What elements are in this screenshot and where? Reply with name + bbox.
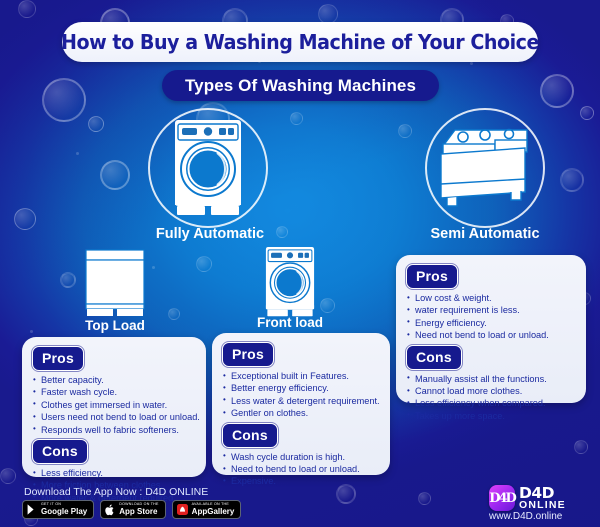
card-top-load: Pros Better capacity. Faster wash cycle.… (22, 337, 206, 477)
cons-list-semi-automatic: Manually assist all the functions. Canno… (406, 373, 576, 423)
bubble-icon (0, 468, 16, 484)
list-item: Users need not bend to load or unload. (32, 411, 196, 423)
page-title-banner: How to Buy a Washing Machine of Your Cho… (62, 22, 538, 62)
bubble-icon (42, 78, 86, 122)
list-item: Clothes get immersed in water. (32, 399, 196, 411)
figure-fully-automatic: Fully Automatic (120, 108, 300, 238)
google-play-badge[interactable]: GET IT ON Google Play (22, 500, 94, 519)
list-item: Expensive. (222, 475, 380, 487)
list-item: Gentler on clothes. (222, 407, 380, 419)
list-item: Takes up more space. (406, 410, 576, 422)
list-item: Need to bend to load or unload. (222, 463, 380, 475)
bubble-dot-icon (30, 330, 33, 333)
google-play-badge-bottom: Google Play (41, 508, 87, 516)
appgallery-badge-bottom: AppGallery (192, 508, 235, 516)
figure-label-fully-automatic: Fully Automatic (120, 226, 300, 242)
list-item: Better energy efficiency. (222, 382, 380, 394)
app-store-badges: GET IT ON Google Play Download on the Ap… (22, 500, 241, 519)
bubble-icon (14, 208, 36, 230)
list-item: water requirement is less. (406, 304, 576, 316)
logo-mark-icon: D4D (489, 485, 515, 511)
bubble-icon (196, 256, 212, 272)
apple-icon (105, 504, 115, 516)
huawei-appgallery-icon (177, 504, 188, 515)
figure-label-top-load: Top Load (60, 318, 170, 333)
list-item: Better capacity. (32, 374, 196, 386)
infographic-poster: How to Buy a Washing Machine of Your Cho… (0, 0, 600, 527)
bubble-dot-icon (76, 152, 79, 155)
card-semi-automatic: Pros Low cost & weight. water requiremen… (396, 255, 586, 403)
bubble-icon (18, 0, 36, 18)
list-item: Exceptional built in Features. (222, 370, 380, 382)
pros-badge: Pros (222, 342, 274, 367)
d4d-online-logo[interactable]: D4D D4D ONLINE www.D4D.online (489, 484, 593, 524)
list-item: Manually assist all the functions. (406, 373, 576, 385)
bubble-icon (318, 4, 338, 24)
pros-list-semi-automatic: Low cost & weight. water requirement is … (406, 292, 576, 342)
cons-badge: Cons (406, 345, 462, 370)
list-item: Low cost & weight. (406, 292, 576, 304)
bubble-icon (418, 492, 431, 505)
appgallery-badge[interactable]: Available on the AppGallery (172, 500, 242, 519)
list-item: Wash cycle duration is high. (222, 451, 380, 463)
pros-badge: Pros (32, 346, 84, 371)
page-title: How to Buy a Washing Machine of Your Cho… (61, 30, 539, 54)
cons-badge: Cons (32, 439, 88, 464)
list-item: Faster wash cycle. (32, 386, 196, 398)
pros-badge: Pros (406, 264, 458, 289)
figure-label-semi-automatic: Semi Automatic (395, 226, 575, 242)
figure-front-load: Front load (235, 245, 345, 327)
bubble-icon (540, 74, 574, 108)
cons-list-front-load: Wash cycle duration is high. Need to ben… (222, 451, 380, 488)
logo-mark-text: D4D (489, 491, 515, 506)
figure-label-front-load: Front load (235, 315, 345, 330)
figure-top-load: Top Load (60, 248, 170, 326)
section-subtitle: Types Of Washing Machines (185, 76, 416, 96)
app-store-badge-bottom: App Store (119, 508, 158, 516)
list-item: Cannot load more clothes. (406, 385, 576, 397)
list-item: Less efficiency when compared. (406, 397, 576, 409)
bubble-icon (88, 116, 104, 132)
bubble-dot-icon (470, 62, 473, 65)
front-load-washer-icon (263, 245, 317, 319)
bubble-icon (580, 106, 594, 120)
logo-subname: ONLINE (519, 499, 566, 511)
list-item: Energy efficiency. (406, 317, 576, 329)
figure-semi-automatic: Semi Automatic (395, 108, 575, 238)
card-front-load: Pros Exceptional built in Features. Bett… (212, 333, 390, 475)
google-play-icon (27, 504, 37, 515)
list-item: Responds well to fabric softeners. (32, 424, 196, 436)
list-item: Less efficiency. (32, 467, 196, 479)
list-item: Less water & detergent requirement. (222, 395, 380, 407)
top-load-washer-icon (84, 248, 146, 318)
logo-url: www.D4D.online (489, 511, 562, 522)
list-item: Need not bend to load or unload. (406, 329, 576, 341)
front-load-washer-icon (171, 118, 245, 218)
bubble-icon (574, 440, 588, 454)
pros-list-front-load: Exceptional built in Features. Better en… (222, 370, 380, 420)
app-store-badge[interactable]: Download on the App Store (100, 500, 165, 519)
section-subtitle-banner: Types Of Washing Machines (162, 70, 439, 101)
download-app-text: Download The App Now : D4D ONLINE (24, 486, 208, 498)
cons-badge: Cons (222, 423, 278, 448)
pros-list-top-load: Better capacity. Faster wash cycle. Clot… (32, 374, 196, 436)
semi-automatic-washer-icon (433, 122, 537, 214)
